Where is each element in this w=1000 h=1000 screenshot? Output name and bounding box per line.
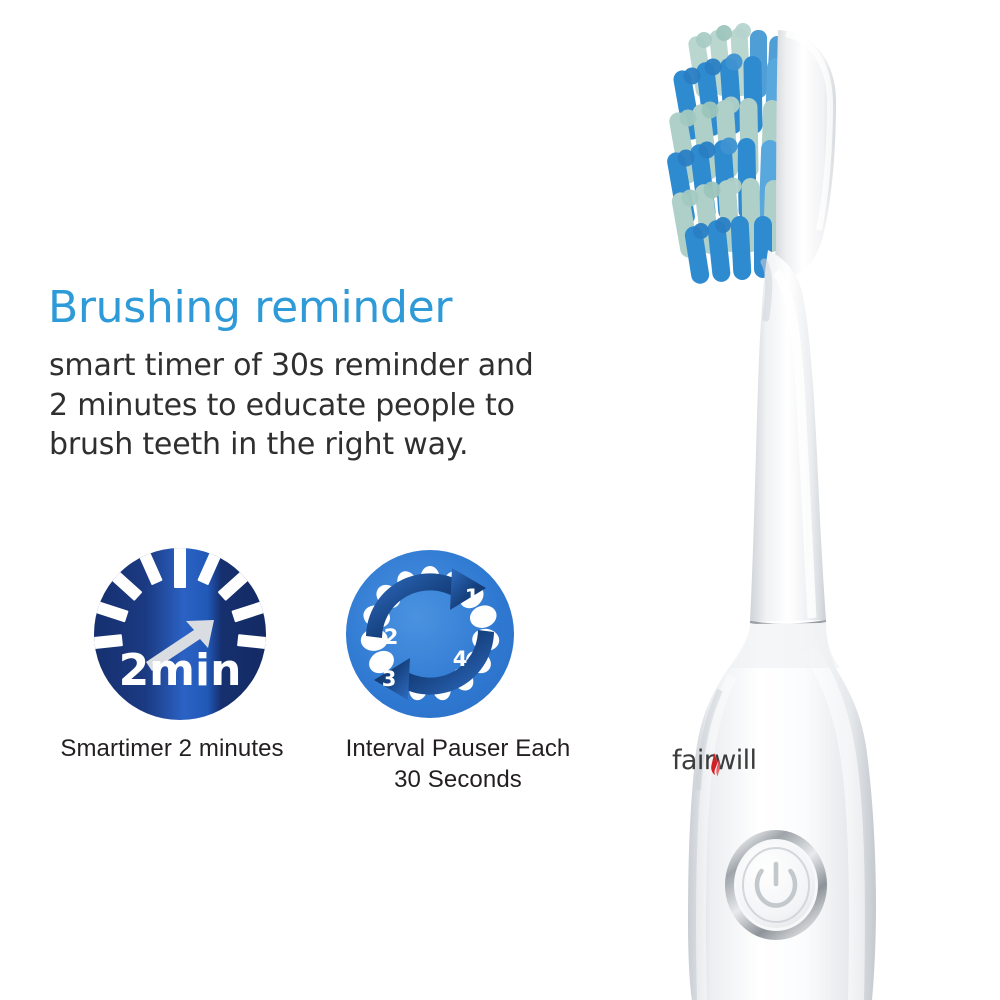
page-title: Brushing reminder <box>48 286 452 330</box>
quadrant-label-4: 4 <box>453 647 468 671</box>
feature-list: 2min Smartimer 2 minutes <box>0 548 600 818</box>
description-line-2: 2 minutes to educate people to <box>49 386 569 426</box>
quadrant-label-1: 1 <box>465 585 480 609</box>
description-line-3: brush teeth in the right way. <box>49 425 569 465</box>
quadrant-teeth-cycle-icon: 1 2 3 4 <box>344 548 516 720</box>
marketing-image-canvas: Brushing reminder smart timer of 30s rem… <box>0 0 1000 1000</box>
description-text: smart timer of 30s reminder and 2 minute… <box>49 346 569 465</box>
feature-caption-interval-pauser: Interval Pauser Each 30 Seconds <box>328 734 588 795</box>
quadrant-label-2: 2 <box>384 625 399 649</box>
feature-interval-pauser: 1 2 3 4 Interval Pauser Each 30 Seconds <box>340 548 520 720</box>
feature-caption-interval-line-2: 30 Seconds <box>394 766 522 793</box>
product-image-toothbrush <box>600 0 1000 1000</box>
timer-2min-icon: 2min <box>90 548 270 720</box>
brand-logo: fair will <box>672 745 756 776</box>
power-button <box>725 830 827 940</box>
description-line-1: smart timer of 30s reminder and <box>49 346 569 386</box>
feature-caption-smartimer: Smartimer 2 minutes <box>60 734 284 765</box>
feature-caption-interval-line-1: Interval Pauser Each <box>346 735 571 762</box>
timer-value-label: 2min <box>119 645 242 696</box>
feature-smartimer: 2min Smartimer 2 minutes <box>68 548 292 720</box>
quadrant-label-3: 3 <box>382 667 397 691</box>
